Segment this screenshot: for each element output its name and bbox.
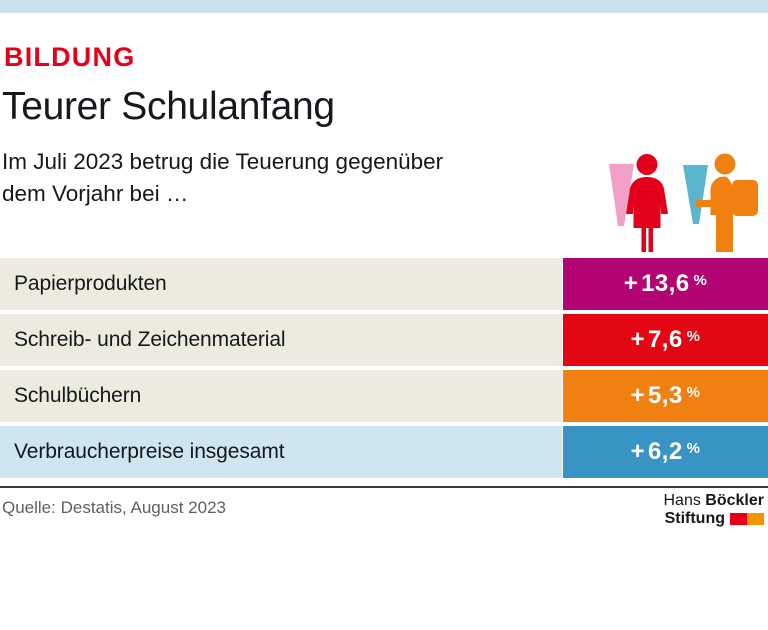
logo-swatch-red [730, 513, 747, 525]
school-cone-teal-icon [683, 165, 708, 224]
logo-color-swatches [730, 513, 764, 525]
source-note: Quelle: Destatis, August 2023 [2, 498, 226, 518]
value-sign: + [624, 270, 638, 298]
table-row: Schulbüchern+5,3% [0, 370, 768, 422]
logo-word-boeckler: Böckler [705, 492, 764, 509]
hans-boeckler-stiftung-logo: Hans Böckler Stiftung [664, 492, 765, 528]
value-sign: + [631, 438, 645, 466]
category-kicker: BILDUNG [0, 13, 768, 71]
value-percent-sign: % [687, 328, 701, 345]
value-percent-sign: % [693, 272, 707, 289]
row-value-badge: +6,2% [563, 426, 768, 478]
value-percent-sign: % [687, 440, 701, 457]
value-percent-sign: % [687, 384, 701, 401]
page-title: Teurer Schulanfang [0, 71, 768, 128]
value-sign: + [631, 326, 645, 354]
value-number: 7,6 [648, 326, 683, 354]
table-row: Verbraucherpreise insgesamt+6,2% [0, 426, 768, 478]
row-value-badge: +5,3% [563, 370, 768, 422]
value-number: 13,6 [641, 270, 689, 298]
top-accent-band [0, 0, 768, 13]
row-value-badge: +13,6% [563, 258, 768, 310]
row-label: Verbraucherpreise insgesamt [0, 426, 562, 478]
row-label: Schreib- und Zeichenmaterial [0, 314, 562, 366]
footer-divider [0, 486, 768, 488]
logo-word-stiftung: Stiftung [665, 510, 725, 528]
logo-word-hans: Hans [664, 492, 706, 509]
logo-line-2: Stiftung [664, 510, 765, 528]
logo-swatch-orange [747, 513, 764, 525]
value-number: 6,2 [648, 438, 683, 466]
table-row: Schreib- und Zeichenmaterial+7,6% [0, 314, 768, 366]
subtitle-line-1: Im Juli 2023 betrug die Teuerung gegenüb… [2, 146, 600, 178]
row-label: Papierprodukten [0, 258, 562, 310]
subtitle-line-2: dem Vorjahr bei … [2, 178, 600, 210]
row-label: Schulbüchern [0, 370, 562, 422]
row-value-badge: +7,6% [563, 314, 768, 366]
value-number: 5,3 [648, 382, 683, 410]
data-rows: Papierprodukten+13,6%Schreib- und Zeiche… [0, 258, 768, 478]
subtitle: Im Juli 2023 betrug die Teuerung gegenüb… [0, 128, 600, 210]
pictogram-group [600, 152, 768, 254]
logo-line-1: Hans Böckler [664, 492, 765, 510]
table-row: Papierprodukten+13,6% [0, 258, 768, 310]
value-sign: + [631, 382, 645, 410]
